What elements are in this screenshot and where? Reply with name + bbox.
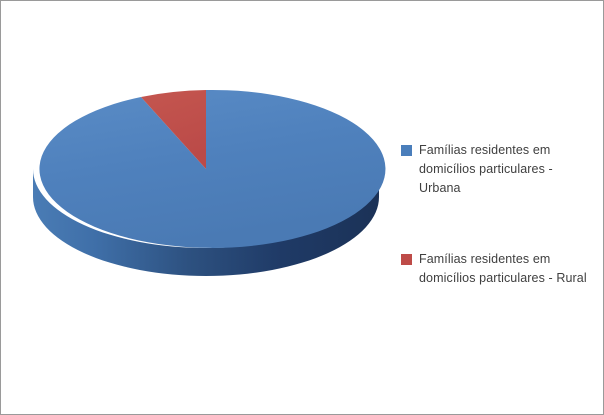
legend-item-rural[interactable]: Famílias residentes em domicílios partic… (401, 250, 601, 288)
chart-frame: Famílias residentes em domicílios partic… (0, 0, 604, 415)
pie-slice-urbana[interactable] (39, 90, 385, 248)
legend-item-urbana[interactable]: Famílias residentes em domicílios partic… (401, 141, 601, 198)
chart-legend: Famílias residentes em domicílios partic… (401, 141, 601, 340)
legend-label-rural: Famílias residentes em domicílios partic… (419, 250, 587, 288)
legend-swatch-rural-icon (401, 254, 412, 265)
legend-swatch-urbana-icon (401, 145, 412, 156)
pie-chart-plot-area[interactable] (1, 1, 401, 415)
pie-chart-svg[interactable] (1, 1, 401, 415)
legend-label-urbana: Famílias residentes em domicílios partic… (419, 141, 587, 198)
